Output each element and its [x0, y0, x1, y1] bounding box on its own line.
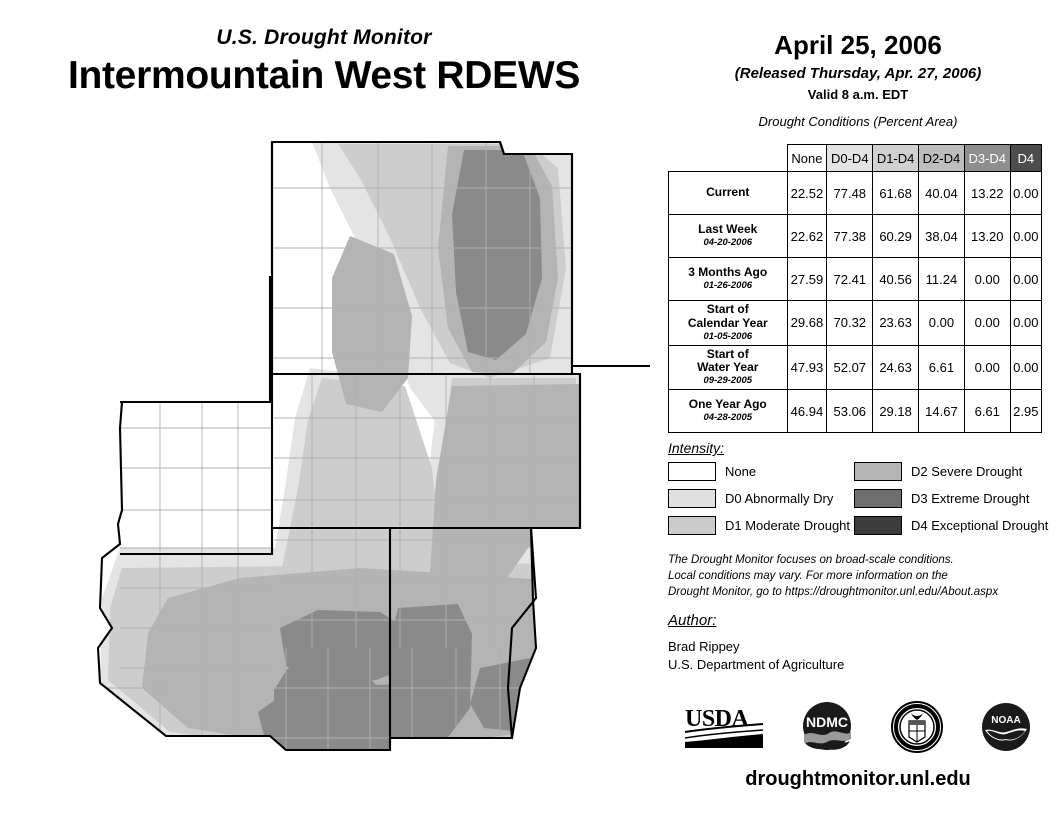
table-cell: 0.00	[964, 258, 1010, 301]
legend-item: D4 Exceptional Drought	[854, 516, 1040, 535]
legend-items: NoneD2 Severe DroughtD0 Abnormally DryD3…	[668, 462, 1048, 535]
table-cell: 27.59	[787, 258, 827, 301]
row-label: Last Week04-20-2006	[669, 215, 788, 258]
table-col-header-none: None	[787, 145, 827, 172]
legend-item: D2 Severe Drought	[854, 462, 1040, 481]
table-cell: 13.22	[964, 172, 1010, 215]
table-cell: 11.24	[919, 258, 965, 301]
issue-date: April 25, 2006	[660, 30, 1056, 61]
usda-logo[interactable]: USDA	[683, 702, 765, 752]
row-label: Start ofCalendar Year01-05-2006	[669, 301, 788, 346]
table-cell: 77.38	[827, 215, 873, 258]
table-col-header-d4: D4	[1010, 145, 1041, 172]
table-cell: 29.18	[873, 390, 919, 433]
table-row[interactable]: One Year Ago04-28-200546.9453.0629.1814.…	[669, 390, 1042, 433]
table-row[interactable]: 3 Months Ago01-26-200627.5972.4140.5611.…	[669, 258, 1042, 301]
table-cell: 40.56	[873, 258, 919, 301]
legend-swatch	[854, 516, 902, 535]
table-cell: 29.68	[787, 301, 827, 346]
table-cell: 0.00	[1010, 258, 1041, 301]
table-row[interactable]: Start ofCalendar Year01-05-200629.6870.3…	[669, 301, 1042, 346]
legend-label: D1 Moderate Drought	[725, 518, 850, 533]
legend-swatch	[668, 516, 716, 535]
release-date: (Released Thursday, Apr. 27, 2006)	[660, 65, 1056, 82]
table-cell: 70.32	[827, 301, 873, 346]
table-body: Current22.5277.4861.6840.0413.220.00Last…	[669, 172, 1042, 433]
legend-label: D4 Exceptional Drought	[911, 518, 1048, 533]
author-info: Brad Rippey U.S. Department of Agricultu…	[668, 638, 844, 675]
table-col-header-d2-d4: D2-D4	[919, 145, 965, 172]
table-cell: 77.48	[827, 172, 873, 215]
table-cell: 72.41	[827, 258, 873, 301]
author-org: U.S. Department of Agriculture	[668, 656, 844, 674]
table-row[interactable]: Last Week04-20-200622.6277.3860.2938.041…	[669, 215, 1042, 258]
note-line: Drought Monitor, go to https://droughtmo…	[668, 585, 1052, 601]
commerce-logo[interactable]	[889, 699, 945, 755]
legend-swatch	[854, 489, 902, 508]
legend-swatch	[668, 489, 716, 508]
author-name: Brad Rippey	[668, 638, 844, 656]
table-cell: 0.00	[1010, 172, 1041, 215]
date-block: April 25, 2006 (Released Thursday, Apr. …	[660, 0, 1056, 102]
table-cell: 2.95	[1010, 390, 1041, 433]
table-cell: 14.67	[919, 390, 965, 433]
row-label: 3 Months Ago01-26-2006	[669, 258, 788, 301]
table-cell: 6.61	[919, 345, 965, 390]
legend-item: D3 Extreme Drought	[854, 489, 1040, 508]
row-label: Start ofWater Year09-29-2005	[669, 345, 788, 390]
table-cell: 53.06	[827, 390, 873, 433]
drought-conditions-table[interactable]: NoneD0-D4D1-D4D2-D4D3-D4D4 Current22.527…	[668, 144, 1042, 433]
table-row[interactable]: Start ofWater Year09-29-200547.9352.0724…	[669, 345, 1042, 390]
table-col-header-d1-d4: D1-D4	[873, 145, 919, 172]
svg-text:NOAA: NOAA	[991, 715, 1020, 726]
svg-text:NDMC: NDMC	[806, 714, 848, 730]
table-col-header-d3-d4: D3-D4	[964, 145, 1010, 172]
table-cell: 47.93	[787, 345, 827, 390]
legend-label: None	[725, 464, 756, 479]
legend-label: D3 Extreme Drought	[911, 491, 1030, 506]
noaa-logo[interactable]: NOAA	[979, 700, 1033, 754]
table-cell: 13.20	[964, 215, 1010, 258]
table-cell: 0.00	[919, 301, 965, 346]
table-cell: 22.52	[787, 172, 827, 215]
table-cell: 61.68	[873, 172, 919, 215]
note-line: Local conditions may vary. For more info…	[668, 569, 1052, 585]
right-panel: April 25, 2006 (Released Thursday, Apr. …	[660, 0, 1056, 816]
valid-time: Valid 8 a.m. EDT	[660, 87, 1056, 102]
table-cell: 40.04	[919, 172, 965, 215]
table-header: NoneD0-D4D1-D4D2-D4D3-D4D4	[669, 145, 1042, 172]
table-cell: 0.00	[1010, 215, 1041, 258]
table-caption: Drought Conditions (Percent Area)	[660, 114, 1056, 129]
legend-label: D0 Abnormally Dry	[725, 491, 833, 506]
row-date: 04-28-2005	[673, 413, 783, 424]
table-cell: 46.94	[787, 390, 827, 433]
row-date: 01-26-2006	[673, 281, 783, 292]
page-title: Intermountain West RDEWS	[0, 54, 648, 98]
table-cell: 0.00	[1010, 345, 1041, 390]
drought-map[interactable]	[60, 128, 650, 788]
row-date: 09-29-2005	[673, 376, 783, 387]
table-cell: 22.62	[787, 215, 827, 258]
legend-label: D2 Severe Drought	[911, 464, 1022, 479]
table-cell: 0.00	[964, 345, 1010, 390]
table-header-row: NoneD0-D4D1-D4D2-D4D3-D4D4	[669, 145, 1042, 172]
legend-title: Intensity:	[668, 440, 1048, 456]
legend-swatch	[668, 462, 716, 481]
page-subtitle: U.S. Drought Monitor	[0, 26, 648, 50]
table-cell: 52.07	[827, 345, 873, 390]
table-cell: 0.00	[964, 301, 1010, 346]
logo-row: USDA NDMC NOAA	[660, 692, 1056, 762]
row-date: 04-20-2006	[673, 238, 783, 249]
table-cell: 38.04	[919, 215, 965, 258]
legend-item: None	[668, 462, 854, 481]
table-cell: 0.00	[1010, 301, 1041, 346]
row-label: Current	[669, 172, 788, 215]
legend-swatch	[854, 462, 902, 481]
page-title-block: U.S. Drought Monitor Intermountain West …	[0, 26, 648, 98]
legend-item: D1 Moderate Drought	[668, 516, 854, 535]
table-corner-cell	[669, 145, 788, 172]
website-url[interactable]: droughtmonitor.unl.edu	[660, 768, 1056, 791]
table-cell: 60.29	[873, 215, 919, 258]
note-line: The Drought Monitor focuses on broad-sca…	[668, 553, 1052, 569]
table-cell: 6.61	[964, 390, 1010, 433]
legend-item: D0 Abnormally Dry	[668, 489, 854, 508]
drought-map-svg[interactable]	[60, 128, 650, 788]
table-cell: 24.63	[873, 345, 919, 390]
ndmc-logo[interactable]: NDMC	[799, 699, 855, 755]
table-cell: 23.63	[873, 301, 919, 346]
disclaimer-note: The Drought Monitor focuses on broad-sca…	[668, 553, 1052, 601]
row-label: One Year Ago04-28-2005	[669, 390, 788, 433]
legend: Intensity: NoneD2 Severe DroughtD0 Abnor…	[668, 440, 1048, 535]
row-date: 01-05-2006	[673, 332, 783, 343]
author-heading: Author:	[668, 612, 716, 629]
table-row[interactable]: Current22.5277.4861.6840.0413.220.00	[669, 172, 1042, 215]
table-col-header-d0-d4: D0-D4	[827, 145, 873, 172]
